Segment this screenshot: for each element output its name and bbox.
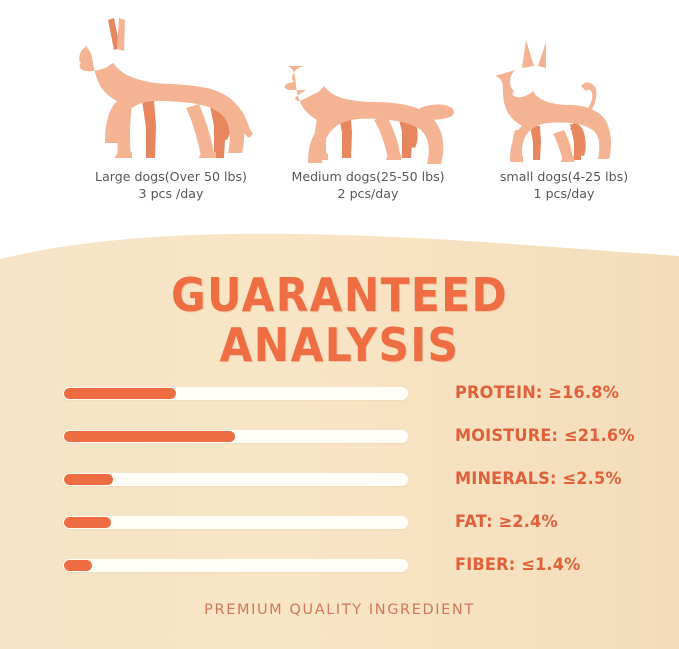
analysis-title-line1: GUARANTEED <box>27 270 652 320</box>
dog-caption-small: small dogs(4-25 lbs) 1 pcs/day <box>474 168 654 202</box>
bar-fill-minerals <box>64 474 113 485</box>
bar-label-fat: FAT: ≥2.4% <box>455 509 558 535</box>
nutrient-bars-list: PROTEIN: ≥16.8% MOISTURE: ≤21.6% MINERAL… <box>0 380 679 595</box>
guaranteed-analysis-panel: GUARANTEED ANALYSIS PROTEIN: ≥16.8% MOIS… <box>0 228 679 649</box>
small-dog-icon <box>474 8 654 168</box>
dog-dose-label-small: 1 pcs/day <box>474 185 654 202</box>
nutrient-row-minerals: MINERALS: ≤2.5% <box>0 466 679 509</box>
bar-track-protein <box>63 387 408 400</box>
bar-label-minerals: MINERALS: ≤2.5% <box>455 466 622 492</box>
dog-column-medium: Medium dogs(25-50 lbs) 2 pcs/day <box>268 8 468 202</box>
dog-size-label-small: small dogs(4-25 lbs) <box>500 169 628 184</box>
bar-fill-fiber <box>64 560 92 571</box>
dog-size-label-medium: Medium dogs(25-50 lbs) <box>291 169 444 184</box>
analysis-title-line2: ANALYSIS <box>27 320 652 370</box>
dog-caption-large: Large dogs(Over 50 lbs) 3 pcs /day <box>46 168 296 202</box>
bar-label-protein: PROTEIN: ≥16.8% <box>455 380 619 406</box>
dog-size-guide: Large dogs(Over 50 lbs) 3 pcs /day Medi <box>0 0 679 245</box>
bar-label-moisture: MOISTURE: ≤21.6% <box>455 423 635 449</box>
nutrient-row-moisture: MOISTURE: ≤21.6% <box>0 423 679 466</box>
premium-quality-footer: PREMIUM QUALITY INGREDIENT <box>0 602 679 618</box>
bar-track-fat <box>63 516 408 529</box>
nutrient-row-fiber: FIBER: ≤1.4% <box>0 552 679 595</box>
dog-caption-medium: Medium dogs(25-50 lbs) 2 pcs/day <box>268 168 468 202</box>
nutrient-row-fat: FAT: ≥2.4% <box>0 509 679 552</box>
nutrient-row-protein: PROTEIN: ≥16.8% <box>0 380 679 423</box>
dog-dose-label-large: 3 pcs /day <box>46 185 296 202</box>
bar-fill-protein <box>64 388 176 399</box>
dog-column-small: small dogs(4-25 lbs) 1 pcs/day <box>474 8 654 202</box>
bar-track-fiber <box>63 559 408 572</box>
dog-size-label-large: Large dogs(Over 50 lbs) <box>95 169 247 184</box>
dog-column-large: Large dogs(Over 50 lbs) 3 pcs /day <box>46 8 296 202</box>
bar-fill-fat <box>64 517 111 528</box>
large-dog-icon <box>46 8 296 168</box>
bar-track-minerals <box>63 473 408 486</box>
dog-dose-label-medium: 2 pcs/day <box>268 185 468 202</box>
bar-label-fiber: FIBER: ≤1.4% <box>455 552 581 578</box>
medium-dog-icon <box>268 8 468 168</box>
analysis-title: GUARANTEED ANALYSIS <box>0 270 679 370</box>
bar-track-moisture <box>63 430 408 443</box>
bar-fill-moisture <box>64 431 235 442</box>
